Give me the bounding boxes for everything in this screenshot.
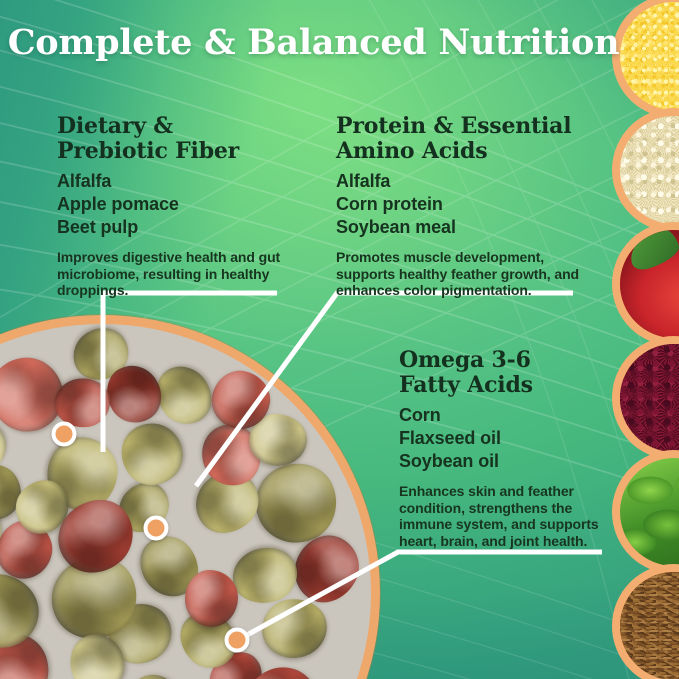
ingredient-item: Soybean oil <box>399 450 614 473</box>
alfalfa-photo <box>620 458 679 566</box>
apple-photo <box>620 230 679 338</box>
heading-line-2: Fatty Acids <box>399 372 533 398</box>
kibble-green <box>258 595 331 662</box>
block-heading-omega: Omega 3-6 Fatty Acids <box>399 348 614 398</box>
kibble-red <box>184 569 238 627</box>
flaxseed-photo <box>620 572 679 679</box>
apple-circle <box>612 222 679 346</box>
ingredient-item: Soybean meal <box>336 216 586 239</box>
kibble-green <box>118 670 187 679</box>
heading-line-2: Prebiotic Fiber <box>57 138 239 164</box>
callout-dot-fiber[interactable] <box>52 422 77 447</box>
page-title: Complete & Balanced Nutrition <box>0 22 679 63</box>
callout-dot-protein[interactable] <box>144 516 169 541</box>
heading-line-1: Dietary & <box>57 113 173 139</box>
beet-pulp-circle <box>612 336 679 460</box>
block-description-protein: Promotes muscle development, supports he… <box>336 249 586 299</box>
heading-line-2: Amino Acids <box>336 138 487 164</box>
block-heading-protein: Protein & Essential Amino Acids <box>336 114 586 164</box>
ingredient-item: Corn protein <box>336 193 586 216</box>
soybean-meal-photo <box>620 116 679 224</box>
soybean-meal-circle <box>612 108 679 232</box>
alfalfa-circle <box>612 450 679 574</box>
ingredient-item: Apple pomace <box>57 193 312 216</box>
ingredient-item: Alfalfa <box>57 170 312 193</box>
nutrient-block-fiber: Dietary & Prebiotic Fiber Alfalfa Apple … <box>57 114 312 299</box>
ingredient-item: Alfalfa <box>336 170 586 193</box>
nutrient-block-omega: Omega 3-6 Fatty Acids Corn Flaxseed oil … <box>399 348 614 549</box>
callout-dot-omega[interactable] <box>225 628 250 653</box>
ingredient-item: Flaxseed oil <box>399 427 614 450</box>
nutrition-infographic: Complete & Balanced Nutrition Dietary & … <box>0 0 679 679</box>
nutrient-block-protein: Protein & Essential Amino Acids Alfalfa … <box>336 114 586 299</box>
block-description-omega: Enhances skin and feather condition, str… <box>399 483 614 549</box>
kibble-green <box>0 568 45 653</box>
ingredient-item: Corn <box>399 404 614 427</box>
ingredient-item: Beet pulp <box>57 216 312 239</box>
flaxseed-circle <box>612 564 679 679</box>
block-description-fiber: Improves digestive health and gut microb… <box>57 249 312 299</box>
heading-line-1: Protein & Essential <box>336 113 571 139</box>
kibble-green <box>109 412 195 498</box>
heading-line-1: Omega 3-6 <box>399 347 531 373</box>
beet-pulp-photo <box>620 344 679 452</box>
block-heading-fiber: Dietary & Prebiotic Fiber <box>57 114 312 164</box>
